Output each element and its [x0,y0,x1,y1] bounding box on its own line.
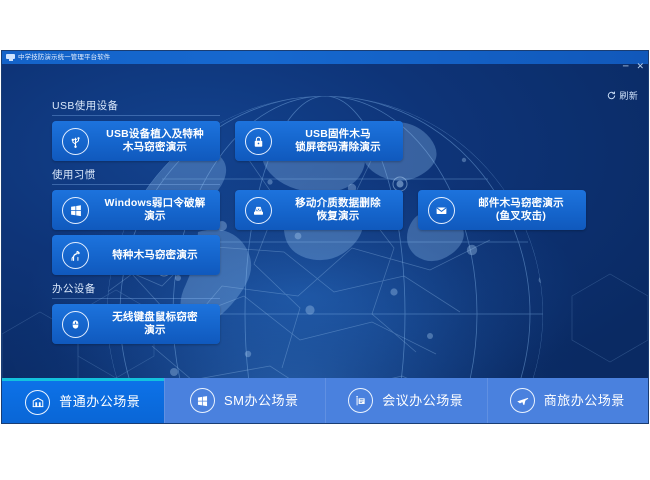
windows-tab-icon [190,388,215,413]
demo-button-label: Windows弱口令破解 演示 [96,197,220,223]
title-bar: 中学技防演示统一管理平台软件 [2,51,648,64]
scenario-tab-bar: 普通办公场景 SM办公场景 [2,378,648,423]
tab-label: 会议办公场景 [382,393,463,409]
demo-button-usb-firmware-lock[interactable]: USB固件木马 锁屏密码清除演示 [235,121,403,161]
section-title: 办公设备 [52,283,220,296]
tab-normal-office[interactable]: 普通办公场景 [2,378,164,423]
demo-button-usb-implant[interactable]: USB设备植入及特种 木马窃密演示 [52,121,220,161]
demo-sections: USB使用设备 [2,64,648,378]
mail-icon [428,197,455,224]
tab-meeting-office[interactable]: 会议办公场景 [325,378,487,423]
window-controls: ─ ✕ [623,63,644,72]
application-window: 中学技防演示统一管理平台软件 ─ ✕ [2,51,648,423]
demo-button-removable-media-recovery[interactable]: 移动介质数据删除 恢复演示 [235,190,403,230]
demo-button-label: 特种木马窃密演示 [96,249,220,262]
demo-button-mail-trojan-spear-phishing[interactable]: 邮件木马窃密演示 (鱼叉攻击) [418,190,586,230]
demo-button-label: 邮件木马窃密演示 (鱼叉攻击) [462,197,586,223]
lock-icon [245,128,272,155]
demo-button-label: USB设备植入及特种 木马窃密演示 [96,128,220,154]
section-office-equipment: 办公设备 无线键盘鼠标窃密 演示 [52,283,648,344]
section-usage-habits: 使用习惯 Windows弱口令破解 演示 [52,169,648,275]
button-row: 特种木马窃密演示 [52,235,648,275]
airplane-icon [510,388,535,413]
section-header: USB使用设备 [52,100,220,116]
demo-button-label: USB固件木马 锁屏密码清除演示 [279,128,403,154]
tab-business-travel-office[interactable]: 商旅办公场景 [487,378,649,423]
button-row: 无线键盘鼠标窃密 演示 [52,304,648,344]
usb-icon [62,128,89,155]
content-area: 刷新 USB使用设备 [2,64,648,378]
demo-button-label: 无线键盘鼠标窃密 演示 [96,311,220,337]
window-title: 中学技防演示统一管理平台软件 [18,51,110,64]
close-icon[interactable]: ✕ [636,63,644,72]
windows-icon [62,197,89,224]
tab-label: SM办公场景 [224,393,299,409]
mouse-icon [62,311,89,338]
section-header: 办公设备 [52,283,220,299]
section-header: 使用习惯 [52,169,220,185]
button-row: Windows弱口令破解 演示 移动介质数据删除 恢复演示 [52,190,648,230]
minimize-button[interactable]: ─ [623,63,628,72]
demo-button-special-trojan[interactable]: 特种木马窃密演示 [52,235,220,275]
button-row: USB设备植入及特种 木马窃密演示 USB固件木马 锁屏密码清除演示 [52,121,648,161]
tab-label: 普通办公场景 [59,394,140,410]
trojan-horse-icon [62,242,89,269]
app-icon [6,53,15,62]
tab-sm-office[interactable]: SM办公场景 [164,378,326,423]
storage-icon [245,197,272,224]
demo-button-windows-weak-password[interactable]: Windows弱口令破解 演示 [52,190,220,230]
demo-button-label: 移动介质数据删除 恢复演示 [279,197,403,223]
section-usb-devices: USB使用设备 [52,100,648,161]
demo-button-wireless-keyboard-mouse[interactable]: 无线键盘鼠标窃密 演示 [52,304,220,344]
section-title: USB使用设备 [52,100,220,113]
refresh-button[interactable]: 刷新 [607,87,638,105]
refresh-label: 刷新 [619,91,638,102]
office-building-icon [25,390,50,415]
refresh-icon [607,87,616,105]
section-title: 使用习惯 [52,169,220,182]
projector-icon [348,388,373,413]
tab-label: 商旅办公场景 [544,393,625,409]
